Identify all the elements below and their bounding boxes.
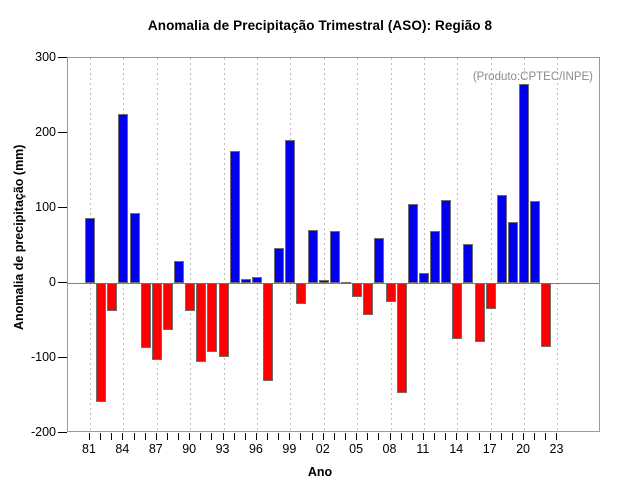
x-axis-tick-label: 93 — [216, 442, 230, 456]
x-axis-tick — [312, 433, 313, 440]
x-axis-tick — [334, 433, 335, 440]
grid-line — [324, 58, 325, 431]
x-axis-tick — [289, 433, 290, 440]
x-axis-tick — [234, 433, 235, 440]
grid-line — [224, 58, 225, 431]
y-axis-tick — [58, 357, 67, 358]
x-axis-tick — [523, 433, 524, 440]
bar — [486, 283, 496, 309]
y-axis-tick — [58, 282, 67, 283]
bar — [475, 283, 485, 342]
x-axis-tick — [156, 433, 157, 440]
bar — [397, 283, 407, 393]
x-axis-tick — [545, 433, 546, 440]
bar — [341, 282, 351, 284]
x-axis-tick — [512, 433, 513, 440]
x-axis-tick — [189, 433, 190, 440]
bar — [96, 283, 106, 402]
x-axis-tick — [367, 433, 368, 440]
x-axis-tick — [356, 433, 357, 440]
bar — [363, 283, 373, 315]
bar — [530, 201, 540, 284]
bar — [352, 283, 362, 297]
bar — [319, 280, 329, 283]
x-axis-tick — [245, 433, 246, 440]
y-axis-tick-label: 100 — [35, 200, 56, 214]
bar — [386, 283, 396, 302]
bar — [452, 283, 462, 339]
grid-line — [424, 58, 425, 431]
bar — [408, 204, 418, 283]
x-axis-tick-label: 84 — [115, 442, 129, 456]
bar — [219, 283, 229, 357]
bar — [196, 283, 206, 362]
x-axis-tick-label: 11 — [416, 442, 429, 456]
x-axis-tick — [456, 433, 457, 440]
y-axis-tick-label: 200 — [35, 125, 56, 139]
grid-line — [491, 58, 492, 431]
grid-line — [257, 58, 258, 431]
x-axis-tick-label: 17 — [483, 442, 497, 456]
x-axis-tick-label: 05 — [349, 442, 363, 456]
grid-line — [391, 58, 392, 431]
x-axis-tick — [267, 433, 268, 440]
grid-line — [157, 58, 158, 431]
x-axis-tick — [300, 433, 301, 440]
x-axis-tick-label: 02 — [316, 442, 330, 456]
x-axis-tick — [345, 433, 346, 440]
bar — [130, 213, 140, 284]
x-axis-tick — [167, 433, 168, 440]
x-axis-label: Ano — [0, 465, 640, 479]
bar — [441, 200, 451, 283]
x-axis-tick-label: 90 — [182, 442, 196, 456]
y-axis-tick — [58, 132, 67, 133]
x-axis-tick — [412, 433, 413, 440]
bar — [463, 244, 473, 283]
chart-title: Anomalia de Precipitação Trimestral (ASO… — [0, 18, 640, 33]
x-axis-tick-label: 14 — [449, 442, 463, 456]
x-axis-tick — [323, 433, 324, 440]
y-axis-label: Anomalia de precipitação (mm) — [12, 145, 26, 330]
x-axis-tick — [223, 433, 224, 440]
bar — [308, 230, 318, 283]
bar — [419, 273, 429, 283]
bar — [285, 140, 295, 283]
x-axis-tick-label: 81 — [82, 442, 96, 456]
bar — [118, 114, 128, 283]
x-axis-tick-label: 23 — [550, 442, 564, 456]
bar — [141, 283, 151, 348]
x-axis-tick — [423, 433, 424, 440]
bar — [207, 283, 217, 352]
bar — [174, 261, 184, 284]
x-axis-tick — [556, 433, 557, 440]
x-axis-tick — [256, 433, 257, 440]
bar — [497, 195, 507, 284]
chart-figure: Anomalia de Precipitação Trimestral (ASO… — [0, 0, 640, 500]
bar — [541, 283, 551, 347]
x-axis-tick-label: 08 — [383, 442, 397, 456]
grid-line — [190, 58, 191, 431]
plot-area: (Produto:CPTEC/INPE) — [67, 57, 600, 432]
bar — [374, 238, 384, 283]
x-axis-tick — [211, 433, 212, 440]
x-axis-tick-label: 20 — [516, 442, 530, 456]
y-axis-tick-label: 300 — [35, 50, 56, 64]
y-axis-tick-label: 0 — [49, 275, 56, 289]
bar — [296, 283, 306, 304]
x-axis-tick-label: 87 — [149, 442, 163, 456]
x-axis-tick — [89, 433, 90, 440]
x-axis-tick-label: 96 — [249, 442, 263, 456]
bar — [252, 277, 262, 283]
x-axis-tick — [278, 433, 279, 440]
bar — [263, 283, 273, 381]
x-axis-tick — [490, 433, 491, 440]
source-annotation: (Produto:CPTEC/INPE) — [473, 71, 593, 83]
bar — [274, 248, 284, 283]
x-axis-tick — [178, 433, 179, 440]
grid-line — [557, 58, 558, 431]
x-axis-tick — [111, 433, 112, 440]
bar — [519, 84, 529, 283]
bar — [85, 218, 95, 283]
x-axis-tick — [467, 433, 468, 440]
x-axis-tick — [501, 433, 502, 440]
y-axis-tick-label: -100 — [31, 350, 56, 364]
x-axis-tick — [378, 433, 379, 440]
bar — [107, 283, 117, 311]
x-axis-tick-label: 99 — [282, 442, 296, 456]
bar — [230, 151, 240, 283]
bar — [152, 283, 162, 360]
bar — [330, 231, 340, 283]
x-axis-tick — [200, 433, 201, 440]
bar — [241, 279, 251, 283]
x-axis-tick — [134, 433, 135, 440]
x-axis-tick — [122, 433, 123, 440]
x-axis-tick — [100, 433, 101, 440]
x-axis-tick — [401, 433, 402, 440]
x-axis-tick — [479, 433, 480, 440]
grid-line — [457, 58, 458, 431]
y-axis-tick-label: -200 — [31, 425, 56, 439]
y-axis-tick — [58, 207, 67, 208]
bar — [163, 283, 173, 330]
bar — [508, 222, 518, 283]
y-axis-tick — [58, 57, 67, 58]
x-axis-tick — [434, 433, 435, 440]
x-axis-tick — [390, 433, 391, 440]
bar — [430, 231, 440, 283]
y-axis-tick — [58, 432, 67, 433]
grid-line — [357, 58, 358, 431]
x-axis-tick — [145, 433, 146, 440]
x-axis-tick — [534, 433, 535, 440]
x-axis-tick — [445, 433, 446, 440]
bar — [185, 283, 195, 311]
